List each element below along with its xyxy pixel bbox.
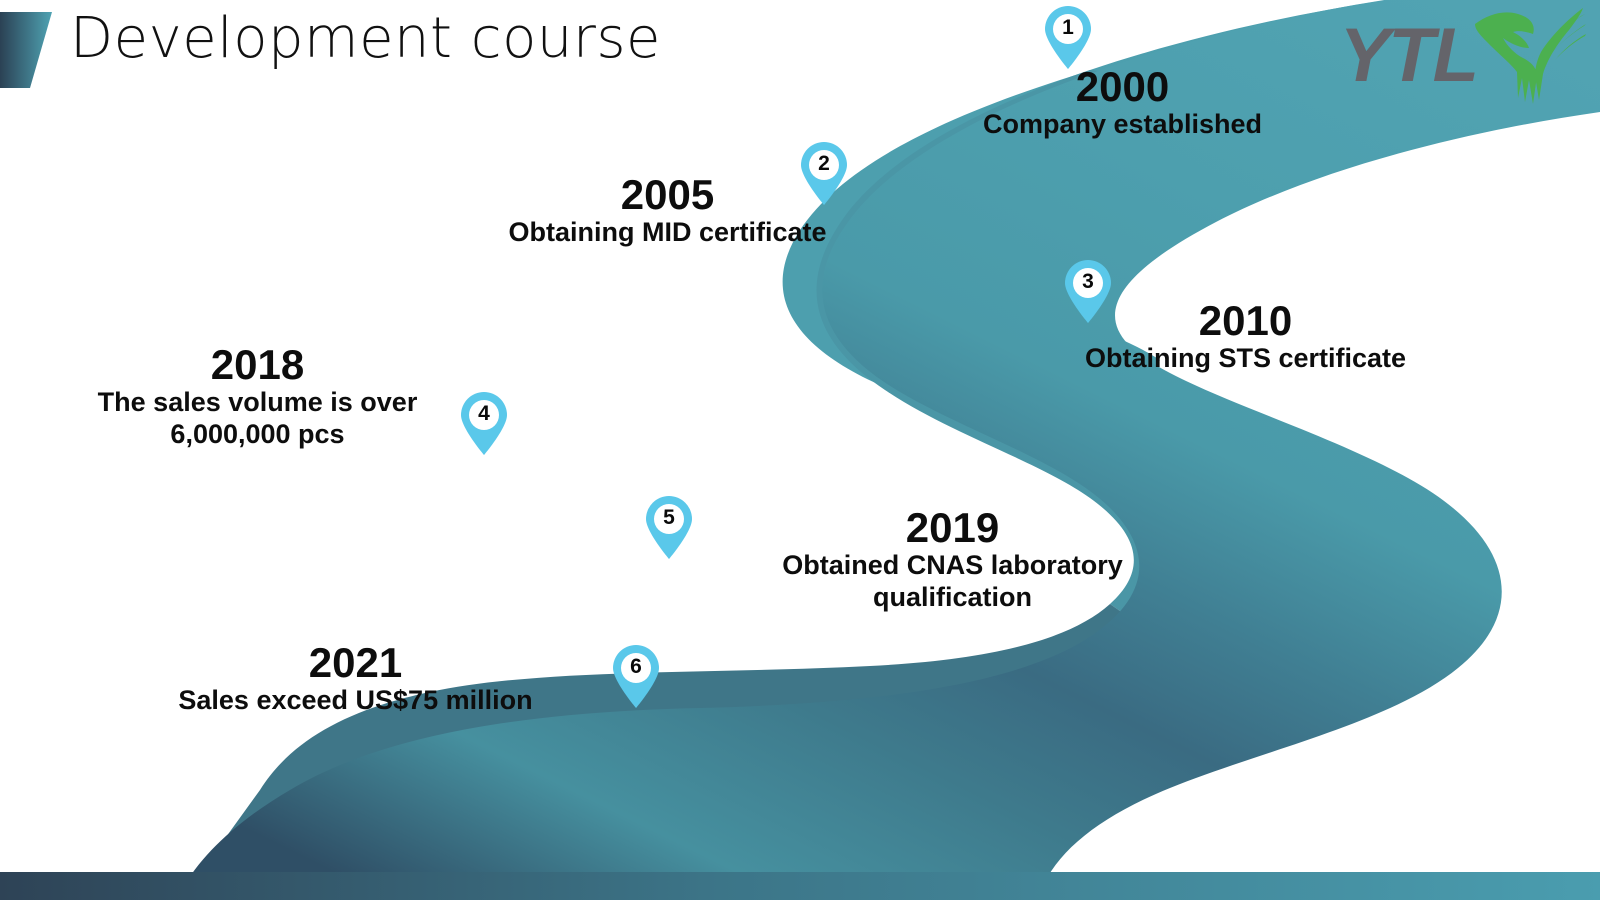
milestone-2000: 2000 Company established bbox=[925, 64, 1320, 141]
title-accent-shape bbox=[0, 8, 60, 92]
map-pin-icon bbox=[610, 643, 662, 709]
map-pin-3[interactable]: 3 bbox=[1062, 258, 1114, 324]
map-pin-2[interactable]: 2 bbox=[798, 140, 850, 206]
milestone-2021: 2021 Sales exceed US$75 million bbox=[158, 640, 553, 717]
milestone-year: 2000 bbox=[925, 64, 1320, 109]
milestone-2018: 2018 The sales volume is over 6,000,000 … bbox=[60, 342, 455, 451]
milestone-desc: Sales exceed US$75 million bbox=[158, 685, 553, 717]
milestone-desc: The sales volume is over 6,000,000 pcs bbox=[60, 387, 455, 451]
map-pin-icon bbox=[1062, 258, 1114, 324]
map-pin-1[interactable]: 1 bbox=[1042, 4, 1094, 70]
map-pin-icon bbox=[643, 494, 695, 560]
milestone-desc: Company established bbox=[925, 109, 1320, 141]
map-pin-icon bbox=[458, 390, 510, 456]
map-pin-icon bbox=[798, 140, 850, 206]
milestone-year: 2018 bbox=[60, 342, 455, 387]
logo-wordmark: YTL bbox=[1339, 18, 1477, 94]
map-pin-icon bbox=[1042, 4, 1094, 70]
map-pin-5[interactable]: 5 bbox=[643, 494, 695, 560]
slide-canvas: Development course YTL 2000 Company esta… bbox=[0, 0, 1600, 900]
map-pin-6[interactable]: 6 bbox=[610, 643, 662, 709]
page-title: Development course bbox=[70, 8, 661, 70]
milestone-year: 2019 bbox=[755, 505, 1150, 550]
green-bird-icon bbox=[1471, 6, 1586, 106]
footer-bar bbox=[0, 872, 1600, 900]
company-logo: YTL bbox=[1339, 6, 1586, 106]
milestone-2019: 2019 Obtained CNAS laboratory qualificat… bbox=[755, 505, 1150, 614]
milestone-desc: Obtaining MID certificate bbox=[470, 217, 865, 249]
map-pin-4[interactable]: 4 bbox=[458, 390, 510, 456]
title-block: Development course bbox=[0, 8, 661, 92]
milestone-year: 2021 bbox=[158, 640, 553, 685]
milestone-desc: Obtaining STS certificate bbox=[1048, 343, 1443, 375]
milestone-desc: Obtained CNAS laboratory qualification bbox=[755, 550, 1150, 614]
